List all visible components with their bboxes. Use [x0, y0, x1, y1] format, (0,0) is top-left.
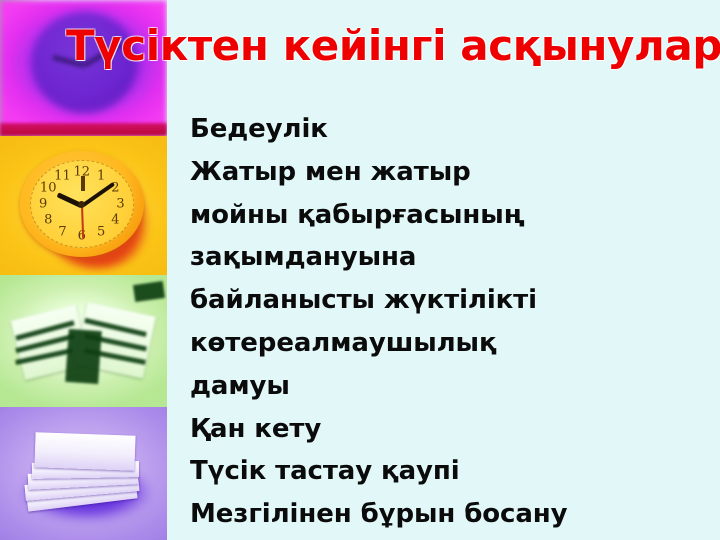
clock-numeral-1: 1	[97, 169, 105, 184]
presentation-slide: 12 1 2 3 4 5 6 7 8 9 10 11	[0, 0, 720, 540]
body-line: Мезгілінен бұрын босану	[190, 493, 720, 536]
yellow-clock-face: 12 1 2 3 4 5 6 7 8 9 10 11	[30, 160, 134, 249]
clock-numeral-8: 8	[44, 212, 52, 227]
crimson-band	[0, 123, 167, 136]
book-spine	[65, 329, 102, 384]
yellow-clock-minute-hand	[81, 182, 115, 207]
yellow-clock-second-hand	[81, 205, 84, 239]
yellow-clock-rim: 12 1 2 3 4 5 6 7 8 9 10 11	[20, 151, 144, 257]
body-line: Түсік тастау қаупі	[190, 450, 720, 493]
body-line: көтереалмаушылық	[190, 322, 720, 365]
photo-panel-green-open-book	[0, 275, 167, 407]
slide-title: Түсіктен кейінгі асқынулар	[66, 24, 720, 69]
slide-body-text: Бедеулік Жатыр мен жатыр мойны қабырғасы…	[190, 108, 720, 536]
clock-numeral-12: 12	[74, 164, 91, 179]
body-line: Жатыр мен жатыр	[190, 151, 720, 194]
body-line: Бедеулік	[190, 108, 720, 151]
clock-numeral-7: 7	[58, 224, 66, 239]
photo-panel-yellow-wall-clock: 12 1 2 3 4 5 6 7 8 9 10 11	[0, 136, 167, 275]
clock-numeral-11: 11	[54, 169, 71, 184]
body-line: байланысты жүктілікті	[190, 279, 720, 322]
yellow-clock-center-cap	[78, 201, 85, 208]
body-line: дамуы	[190, 365, 720, 408]
clock-numeral-3: 3	[116, 197, 124, 212]
body-line: Қан кету	[190, 408, 720, 451]
photo-panel-purple-paper-stack	[0, 407, 167, 540]
clock-numeral-4: 4	[111, 212, 119, 227]
paper-sheet-top	[34, 432, 135, 470]
photo-strip: 12 1 2 3 4 5 6 7 8 9 10 11	[0, 0, 167, 540]
body-line: зақымдануына	[190, 236, 720, 279]
clock-numeral-9: 9	[39, 197, 47, 212]
clock-numeral-5: 5	[97, 224, 105, 239]
body-line: мойны қабырғасының	[190, 194, 720, 237]
